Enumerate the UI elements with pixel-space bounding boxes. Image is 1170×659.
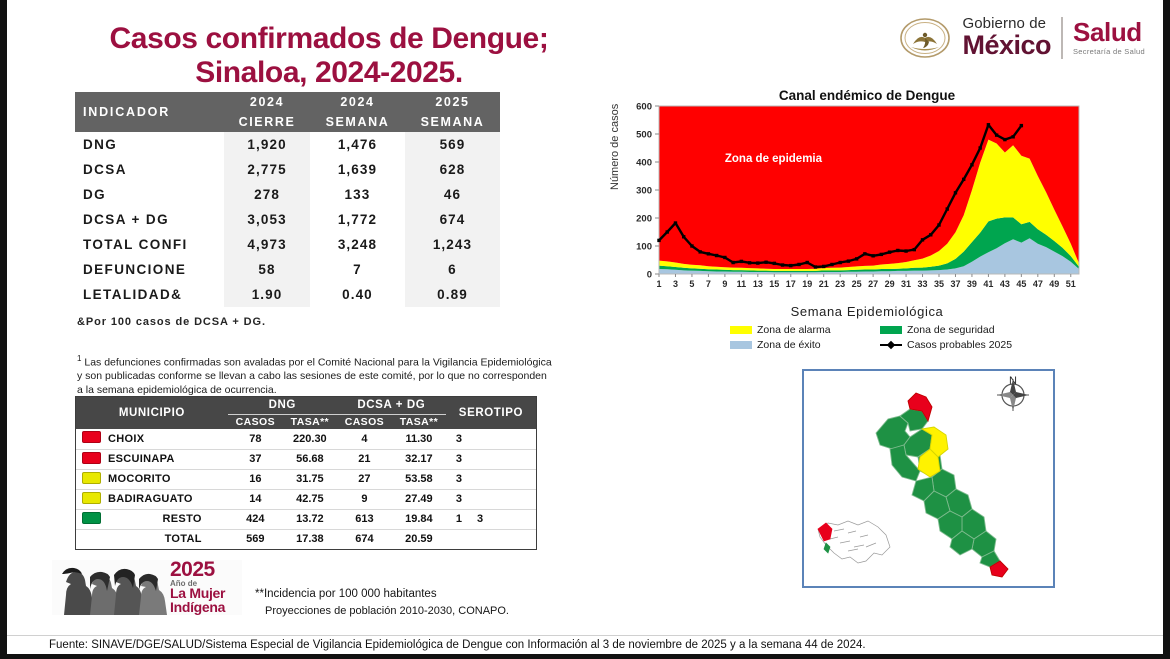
chart-x-tick-label: 9 [722, 279, 727, 289]
chart-line-marker [822, 265, 825, 268]
chart-x-tick-label: 19 [802, 279, 812, 289]
chart-line-marker [740, 260, 743, 263]
dcsa-dg-tasa: 53.58 [392, 469, 446, 489]
indicator-label: DCSA [75, 157, 224, 182]
note-sup-line1: 1 Las defunciones confirmadas son avalad… [77, 354, 582, 370]
dcsa-dg-casos: 674 [337, 529, 392, 549]
indicator-2025-semana: 674 [405, 207, 500, 232]
indigenous-women-illustration [52, 560, 170, 615]
chart-line-marker [970, 163, 973, 166]
municipio-name: BADIRAGUATO [106, 489, 228, 509]
legend-label: Zona de alarma [757, 324, 831, 336]
dng-tasa: 42.75 [283, 489, 337, 509]
municipio-color-swatch [82, 492, 101, 504]
dcsa-dg-casos: 9 [337, 489, 392, 509]
chart-annotation-zona-epidemia: Zona de epidemia [725, 153, 823, 165]
chart-line-marker [1020, 124, 1023, 127]
chart-line-marker [929, 233, 932, 236]
salud-sublabel: Secretaría de Salud [1073, 48, 1145, 56]
indicator-table-body: DNG1,9201,476569DCSA2,7751,639628DG27813… [75, 132, 500, 307]
indicator-2024-semana: 0.40 [310, 282, 405, 307]
chart-x-tick-label: 21 [819, 279, 829, 289]
chart-x-tick-label: 49 [1049, 279, 1059, 289]
chart-line-marker [847, 259, 850, 262]
chart-line-marker [1011, 135, 1014, 138]
chart-line-marker [871, 254, 874, 257]
table-row: RESTO42413.7261319.841 3 [76, 509, 536, 529]
dcsa-dg-tasa: 32.17 [392, 449, 446, 469]
dng-casos: 424 [228, 509, 283, 529]
dcsa-dg-casos: 27 [337, 469, 392, 489]
page-title: Casos confirmados de Dengue; Sinaloa, 20… [79, 22, 579, 89]
chart-x-tick-label: 41 [983, 279, 993, 289]
chart-x-tick-label: 37 [950, 279, 960, 289]
chart-line-marker [657, 239, 660, 242]
chart-x-tick-label: 23 [835, 279, 845, 289]
chart-plot-area: Zona de epidemia010020030040050060013579… [607, 82, 1087, 307]
legend-item: Zona de alarma [730, 322, 880, 337]
chart-line-marker [756, 261, 759, 264]
chart-legend: Zona de alarmaZona de seguridadZona de é… [605, 322, 1075, 352]
legend-item: Zona de éxito [730, 337, 880, 352]
chart-x-tick-label: 51 [1066, 279, 1076, 289]
page-title-line2: Sinaloa, 2024-2025. [79, 56, 579, 90]
chart-y-tick-label: 300 [636, 186, 652, 197]
chart-line-marker [946, 207, 949, 210]
sinaloa-map-panel: N [802, 369, 1055, 588]
col-dd-casos: CASOS [337, 414, 392, 429]
chart-x-tick-label: 29 [885, 279, 895, 289]
municipio-name: RESTO [106, 509, 228, 529]
dng-casos: 569 [228, 529, 283, 549]
col-municipio: MUNICIPIO [76, 397, 228, 429]
serotipo-value: 1 3 [446, 509, 536, 529]
municipio-swatch-cell [76, 469, 106, 489]
col-serotipo: SEROTIPO [446, 397, 536, 429]
serotipo-value [446, 529, 536, 549]
legend-color-swatch [730, 326, 752, 334]
endemic-channel-chart: Canal endémico de Dengue Número de casos… [607, 82, 1087, 362]
indicator-2025-semana: 1,243 [405, 232, 500, 257]
chart-line-marker [880, 253, 883, 256]
mujer-line2: Indígena [170, 601, 242, 614]
col-group-dng: DNG [228, 397, 337, 414]
municipio-table: MUNICIPIO DNG DCSA + DG SEROTIPO CASOS T… [76, 397, 536, 549]
chart-line-marker [731, 261, 734, 264]
chart-x-tick-label: 5 [689, 279, 694, 289]
municipio-color-swatch [82, 472, 101, 484]
chart-line-marker [830, 263, 833, 266]
col-2024-cierre-sub: CIERRE [224, 112, 310, 132]
chart-line-marker [789, 264, 792, 267]
dcsa-dg-casos: 21 [337, 449, 392, 469]
chart-line-marker [666, 230, 669, 233]
indicator-table-head: INDICADOR 2024 2024 2025 CIERRE SEMANA S… [75, 92, 500, 132]
chart-line-marker [896, 249, 899, 252]
mujer-year: 2025 [170, 560, 242, 580]
indicator-2025-semana: 46 [405, 182, 500, 207]
chart-line-marker [921, 238, 924, 241]
table-row: TOTAL56917.3867420.59 [76, 529, 536, 549]
indicator-label: DNG [75, 132, 224, 157]
chart-line-marker [715, 254, 718, 257]
municipio-name: MOCORITO [106, 469, 228, 489]
dcsa-dg-casos: 613 [337, 509, 392, 529]
indicator-2025-semana: 628 [405, 157, 500, 182]
col-2025-semana-sub: SEMANA [405, 112, 500, 132]
indicator-2024-cierre: 4,973 [224, 232, 310, 257]
chart-line-marker [674, 221, 677, 224]
indicator-2024-cierre: 2,775 [224, 157, 310, 182]
table-row: DCSA2,7751,639628 [75, 157, 500, 182]
indicator-label: DEFUNCIONE [75, 257, 224, 282]
chart-line-marker [814, 265, 817, 268]
chart-y-tick-label: 400 [636, 158, 652, 169]
col-2024-semana-year: 2024 [310, 92, 405, 112]
indicator-2024-cierre: 1.90 [224, 282, 310, 307]
municipio-table-head: MUNICIPIO DNG DCSA + DG SEROTIPO CASOS T… [76, 397, 536, 429]
chart-x-tick-label: 33 [918, 279, 928, 289]
table-row: MOCORITO1631.752753.583 [76, 469, 536, 489]
legend-item: Casos probables 2025 [880, 337, 1075, 352]
chart-line-marker [838, 261, 841, 264]
serotipo-value: 3 [446, 449, 536, 469]
municipio-swatch-cell [76, 489, 106, 509]
indicator-label: DCSA + DG [75, 207, 224, 232]
chart-y-tick-label: 200 [636, 214, 652, 225]
municipio-color-swatch [82, 512, 101, 524]
chart-line-marker [995, 133, 998, 136]
chart-line-marker [806, 261, 809, 264]
table-row: LETALIDAD&1.900.400.89 [75, 282, 500, 307]
dcsa-dg-casos: 4 [337, 429, 392, 449]
col-2025-semana-year: 2025 [405, 92, 500, 112]
table-row: DCSA + DG3,0531,772674 [75, 207, 500, 232]
slide-root: Casos confirmados de Dengue; Sinaloa, 20… [0, 0, 1170, 659]
indicator-2024-semana: 1,476 [310, 132, 405, 157]
chart-line-marker [748, 261, 751, 264]
mujer-indigena-logo: 2025 Año de La Mujer Indígena [52, 560, 242, 615]
chart-line-marker [863, 252, 866, 255]
table-row: ESCUINAPA3756.682132.173 [76, 449, 536, 469]
dng-tasa: 17.38 [283, 529, 337, 549]
note-incidencia-line1: **Incidencia por 100 000 habitantes [255, 586, 509, 603]
chart-y-tick-label: 100 [636, 242, 652, 253]
dng-tasa: 56.68 [283, 449, 337, 469]
indicator-2025-semana: 0.89 [405, 282, 500, 307]
legend-item: Zona de seguridad [880, 322, 1075, 337]
gob-bottom-label: México [962, 32, 1051, 59]
mujer-indigena-wordmark: 2025 Año de La Mujer Indígena [170, 560, 242, 615]
municipio-header-row-top: MUNICIPIO DNG DCSA + DG SEROTIPO [76, 397, 536, 414]
legend-label: Zona de éxito [757, 339, 821, 351]
sinaloa-map [804, 371, 1053, 586]
chart-line-marker [698, 250, 701, 253]
chart-line-marker [781, 263, 784, 266]
mexico-inset-map [818, 521, 890, 563]
indicator-2024-cierre: 278 [224, 182, 310, 207]
gobierno-mexico-logo: Gobierno de México Salud Secretaría de S… [898, 16, 1145, 59]
indicator-label: TOTAL CONFI [75, 232, 224, 257]
note-sup-line2: y son publicadas conforme se llevan a ca… [77, 370, 582, 384]
table-row: DEFUNCIONE5876 [75, 257, 500, 282]
chart-line-marker [978, 146, 981, 149]
chart-line-marker [764, 261, 767, 264]
chart-line-marker [690, 244, 693, 247]
municipio-name: ESCUINAPA [106, 449, 228, 469]
gobierno-wordmark: Gobierno de México [962, 16, 1051, 59]
table-row: BADIRAGUATO1442.75927.493 [76, 489, 536, 509]
legend-color-swatch [880, 326, 902, 334]
chart-x-tick-label: 31 [901, 279, 911, 289]
logo-divider [1061, 17, 1063, 59]
indicator-2024-semana: 7 [310, 257, 405, 282]
col-dng-tasa: TASA** [283, 414, 337, 429]
chart-x-tick-label: 45 [1016, 279, 1026, 289]
indicator-2024-cierre: 58 [224, 257, 310, 282]
indicator-header-row-top: INDICADOR 2024 2024 2025 [75, 92, 500, 112]
chart-x-tick-label: 1 [656, 279, 661, 289]
legend-line-marker [880, 341, 902, 349]
chart-line-marker [962, 178, 965, 181]
municipio-swatch-cell [76, 509, 106, 529]
chart-x-tick-label: 47 [1033, 279, 1043, 289]
note-incidencia: **Incidencia por 100 000 habitantes Proy… [255, 586, 509, 620]
municipio-swatch-cell [76, 529, 106, 549]
chart-x-tick-label: 27 [868, 279, 878, 289]
legend-color-swatch [730, 341, 752, 349]
chart-x-tick-label: 13 [753, 279, 763, 289]
municipio-swatch-cell [76, 429, 106, 449]
chart-x-tick-label: 7 [706, 279, 711, 289]
dcsa-dg-tasa: 11.30 [392, 429, 446, 449]
indicator-label: LETALIDAD& [75, 282, 224, 307]
chart-line-marker [682, 235, 685, 238]
chart-y-tick-label: 500 [636, 130, 652, 141]
compass-rose-icon [997, 379, 1029, 411]
note-ampersand: &Por 100 casos de DCSA + DG. [77, 316, 266, 328]
col-2024-semana-sub: SEMANA [310, 112, 405, 132]
indicator-table: INDICADOR 2024 2024 2025 CIERRE SEMANA S… [75, 92, 500, 307]
legend-label: Zona de seguridad [907, 324, 995, 336]
chart-x-tick-label: 17 [786, 279, 796, 289]
chart-line-marker [937, 223, 940, 226]
chart-x-tick-label: 25 [852, 279, 862, 289]
table-row: DNG1,9201,476569 [75, 132, 500, 157]
chart-line-marker [773, 262, 776, 265]
municipio-table-wrapper: MUNICIPIO DNG DCSA + DG SEROTIPO CASOS T… [75, 396, 537, 550]
dng-tasa: 220.30 [283, 429, 337, 449]
indicator-2025-semana: 569 [405, 132, 500, 157]
col-dng-casos: CASOS [228, 414, 283, 429]
col-2024-cierre-year: 2024 [224, 92, 310, 112]
dcsa-dg-tasa: 20.59 [392, 529, 446, 549]
salud-wordmark: Salud Secretaría de Salud [1073, 19, 1145, 56]
chart-line-marker [723, 256, 726, 259]
dng-casos: 14 [228, 489, 283, 509]
legend-label: Casos probables 2025 [907, 339, 1012, 351]
chart-x-tick-label: 11 [737, 279, 747, 289]
serotipo-value: 3 [446, 489, 536, 509]
indicator-label: DG [75, 182, 224, 207]
salud-label: Salud [1073, 19, 1145, 46]
dng-casos: 37 [228, 449, 283, 469]
chart-y-tick-label: 600 [636, 102, 652, 113]
indicator-2025-semana: 6 [405, 257, 500, 282]
footer-source: Fuente: SINAVE/DGE/SALUD/Sistema Especia… [7, 635, 1163, 651]
dcsa-dg-tasa: 27.49 [392, 489, 446, 509]
chart-y-tick-label: 0 [647, 270, 652, 281]
indicator-2024-cierre: 1,920 [224, 132, 310, 157]
dng-tasa: 13.72 [283, 509, 337, 529]
municipio-color-swatch [82, 452, 101, 464]
col-indicador: INDICADOR [75, 92, 224, 132]
chart-line-marker [855, 257, 858, 260]
indicator-2024-semana: 1,772 [310, 207, 405, 232]
chart-x-tick-label: 35 [934, 279, 944, 289]
indicator-2024-cierre: 3,053 [224, 207, 310, 232]
table-row: CHOIX78220.30411.303 [76, 429, 536, 449]
chart-line-marker [1003, 138, 1006, 141]
municipio-name: TOTAL [106, 529, 228, 549]
indicator-2024-semana: 3,248 [310, 232, 405, 257]
col-dd-tasa: TASA** [392, 414, 446, 429]
chart-line-marker [797, 263, 800, 266]
chart-line-marker [707, 252, 710, 255]
chart-x-tick-label: 3 [673, 279, 678, 289]
table-row: TOTAL CONFI4,9733,2481,243 [75, 232, 500, 257]
municipio-table-body: CHOIX78220.30411.303ESCUINAPA3756.682132… [76, 429, 536, 549]
dng-casos: 16 [228, 469, 283, 489]
note-incidencia-line2: Proyecciones de población 2010-2030, CON… [255, 603, 509, 620]
mexican-coat-of-arms-icon [898, 17, 952, 59]
chart-x-tick-label: 39 [967, 279, 977, 289]
chart-x-tick-label: 15 [769, 279, 779, 289]
chart-x-tick-label: 43 [1000, 279, 1010, 289]
chart-line-marker [987, 123, 990, 126]
indicator-2024-semana: 1,639 [310, 157, 405, 182]
indicator-2024-semana: 133 [310, 182, 405, 207]
serotipo-value: 3 [446, 429, 536, 449]
municipio-swatch-cell [76, 449, 106, 469]
dng-tasa: 31.75 [283, 469, 337, 489]
note-superscript: 1 Las defunciones confirmadas son avalad… [77, 354, 582, 398]
gob-top-label: Gobierno de [962, 16, 1051, 31]
municipio-color-swatch [82, 431, 101, 443]
municipio-name: CHOIX [106, 429, 228, 449]
col-group-dcsa-dg: DCSA + DG [337, 397, 446, 414]
page-title-line1: Casos confirmados de Dengue; [79, 22, 579, 56]
dng-casos: 78 [228, 429, 283, 449]
chart-line-marker [904, 249, 907, 252]
table-row: DG27813346 [75, 182, 500, 207]
chart-line-marker [913, 248, 916, 251]
dcsa-dg-tasa: 19.84 [392, 509, 446, 529]
chart-line-marker [954, 191, 957, 194]
chart-line-marker [888, 250, 891, 253]
serotipo-value: 3 [446, 469, 536, 489]
